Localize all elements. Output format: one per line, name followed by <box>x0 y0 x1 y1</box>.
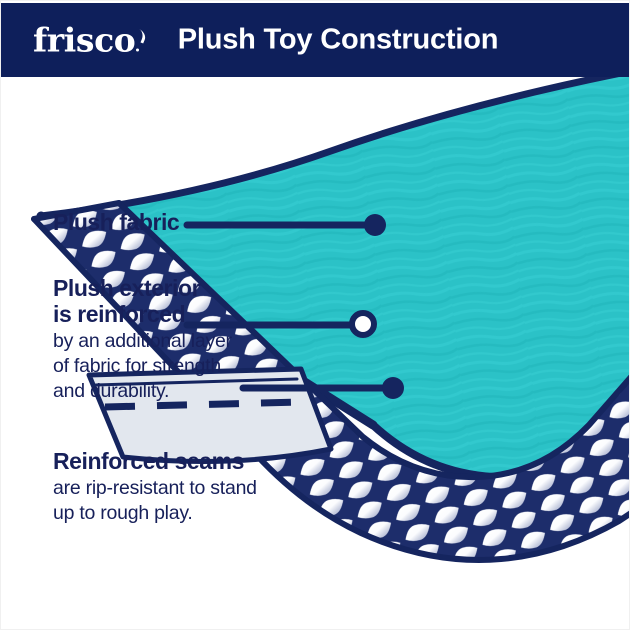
callout-plush-fabric: Plush fabric <box>53 209 179 235</box>
infographic-root: frisco Plush Toy Construction <box>0 0 630 630</box>
callout-plush-exterior: Plush exterior is reinforced by an addit… <box>53 275 232 404</box>
header-bar: frisco Plush Toy Construction <box>1 3 630 77</box>
leader-dot-reinforced-seams <box>382 377 404 399</box>
callout-reinforced-seams-body: are rip-resistant to stand up to rough p… <box>53 476 257 526</box>
callout-plush-exterior-body: by an additional layer of fabric for str… <box>53 329 232 403</box>
callout-reinforced-seams: Reinforced seams are rip-resistant to st… <box>53 448 257 526</box>
page-title: Plush Toy Construction <box>1 24 630 57</box>
leader-dot-plush-exterior <box>352 313 374 335</box>
leader-dot-plush-fabric <box>364 214 386 236</box>
callout-plush-fabric-heading: Plush fabric <box>53 209 179 235</box>
callout-plush-exterior-heading: Plush exterior is reinforced <box>53 275 232 327</box>
callout-reinforced-seams-heading: Reinforced seams <box>53 448 257 474</box>
